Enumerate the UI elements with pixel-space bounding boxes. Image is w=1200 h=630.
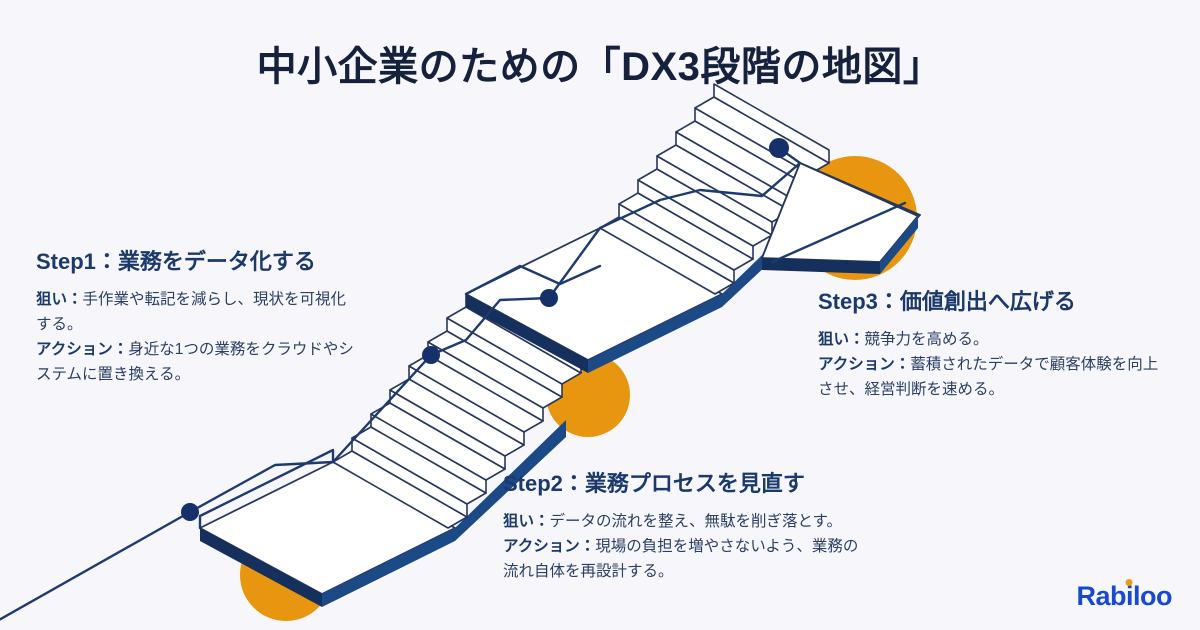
step1-action: アクション：身近な1つの業務をクラウドやシステムに置き換える。 bbox=[36, 337, 356, 387]
step3-action-label: アクション： bbox=[818, 356, 910, 373]
step2-aim-text: データの流れを整え、無駄を削ぎ落とす。 bbox=[550, 513, 843, 530]
step-block-2: Step2：業務プロセスを見直す 狙い：データの流れを整え、無駄を削ぎ落とす。 … bbox=[503, 470, 873, 584]
step1-action-label: アクション： bbox=[36, 341, 128, 358]
rabiloo-logo[interactable]: Rab i loo bbox=[1076, 581, 1172, 612]
step1-heading: Step1：業務をデータ化する bbox=[36, 248, 356, 277]
page-title: 中小企業のための「DX3段階の地図」 bbox=[0, 34, 1200, 92]
step2-aim-label: 狙い： bbox=[503, 513, 550, 530]
step1-aim-text: 手作業や転記を減らし、現状を可視化する。 bbox=[36, 291, 346, 333]
logo-text-pre: Rab bbox=[1076, 581, 1126, 612]
step1-aim-label: 狙い： bbox=[36, 291, 83, 308]
step-block-3: Step3：価値創出へ広げる 狙い：競争力を高める。 アクション：蓄積されたデー… bbox=[818, 288, 1168, 402]
step2-action-label: アクション： bbox=[503, 538, 595, 555]
step2-heading: Step2：業務プロセスを見直す bbox=[503, 470, 873, 499]
step3-action: アクション：蓄積されたデータで顧客体験を向上させ、経営判断を速める。 bbox=[818, 352, 1168, 402]
node-dot-3 bbox=[540, 289, 558, 307]
infographic-canvas: .stroke-line { fill:none; stroke:#1d3b6e… bbox=[0, 0, 1200, 630]
step-block-1: Step1：業務をデータ化する 狙い：手作業や転記を減らし、現状を可視化する。 … bbox=[36, 248, 356, 387]
step3-aim-label: 狙い： bbox=[818, 331, 865, 348]
step3-aim: 狙い：競争力を高める。 bbox=[818, 327, 1168, 352]
step2-action: アクション：現場の負担を増やさないよう、業務の流れ自体を再設計する。 bbox=[503, 534, 873, 584]
logo-i-wrapper: i bbox=[1126, 581, 1133, 612]
logo-text-post: loo bbox=[1133, 581, 1172, 612]
node-dot-4 bbox=[769, 138, 789, 158]
node-dot-2 bbox=[422, 346, 440, 364]
step2-aim: 狙い：データの流れを整え、無駄を削ぎ落とす。 bbox=[503, 509, 873, 534]
node-dot-1 bbox=[181, 503, 199, 521]
step3-aim-text: 競争力を高める。 bbox=[865, 331, 989, 348]
step1-aim: 狙い：手作業や転記を減らし、現状を可視化する。 bbox=[36, 287, 356, 337]
step3-heading: Step3：価値創出へ広げる bbox=[818, 288, 1168, 317]
logo-orange-dot-icon bbox=[1126, 579, 1133, 586]
